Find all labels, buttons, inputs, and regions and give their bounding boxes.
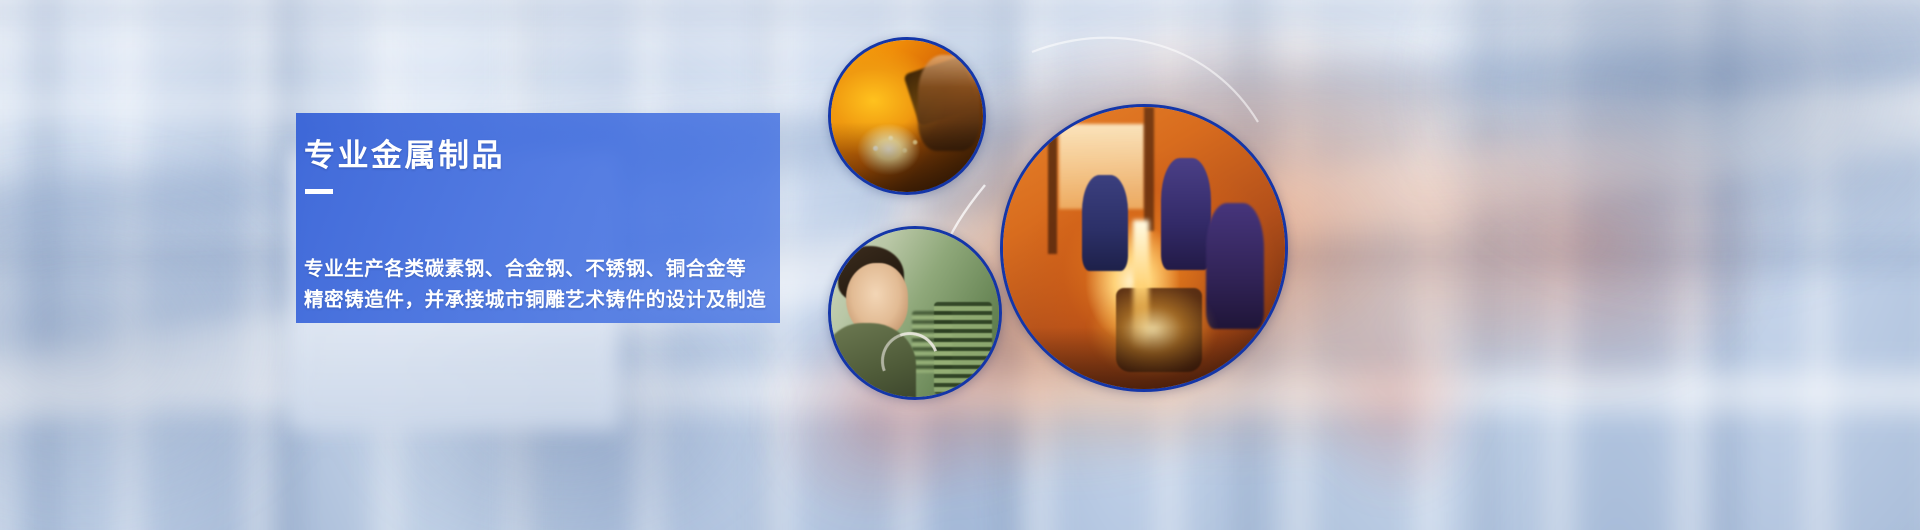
foundry-beam-center xyxy=(1144,107,1154,231)
hero-banner: 专业金属制品 专业生产各类碳素钢、合金钢、不锈钢、铜合金等 精密铸造件，并承接城… xyxy=(0,0,1920,530)
foundry-photo-image xyxy=(1003,107,1285,389)
foundry-pour-photo xyxy=(1000,104,1288,392)
foundry-beam-left xyxy=(1048,113,1057,254)
foundry-floor-shadow xyxy=(1003,327,1285,389)
assembly-worker-photo xyxy=(828,226,1002,400)
assembly-photo-image xyxy=(831,229,999,397)
foundry-worker-1-shape xyxy=(1082,175,1128,271)
welding-photo-shadow xyxy=(831,122,983,192)
welding-photo-image xyxy=(831,40,983,192)
foundry-worker-2-shape xyxy=(1161,158,1211,270)
photo-collage xyxy=(0,0,1920,530)
welding-sparks-photo xyxy=(828,37,986,195)
parts-rack-front-shape xyxy=(934,302,992,394)
